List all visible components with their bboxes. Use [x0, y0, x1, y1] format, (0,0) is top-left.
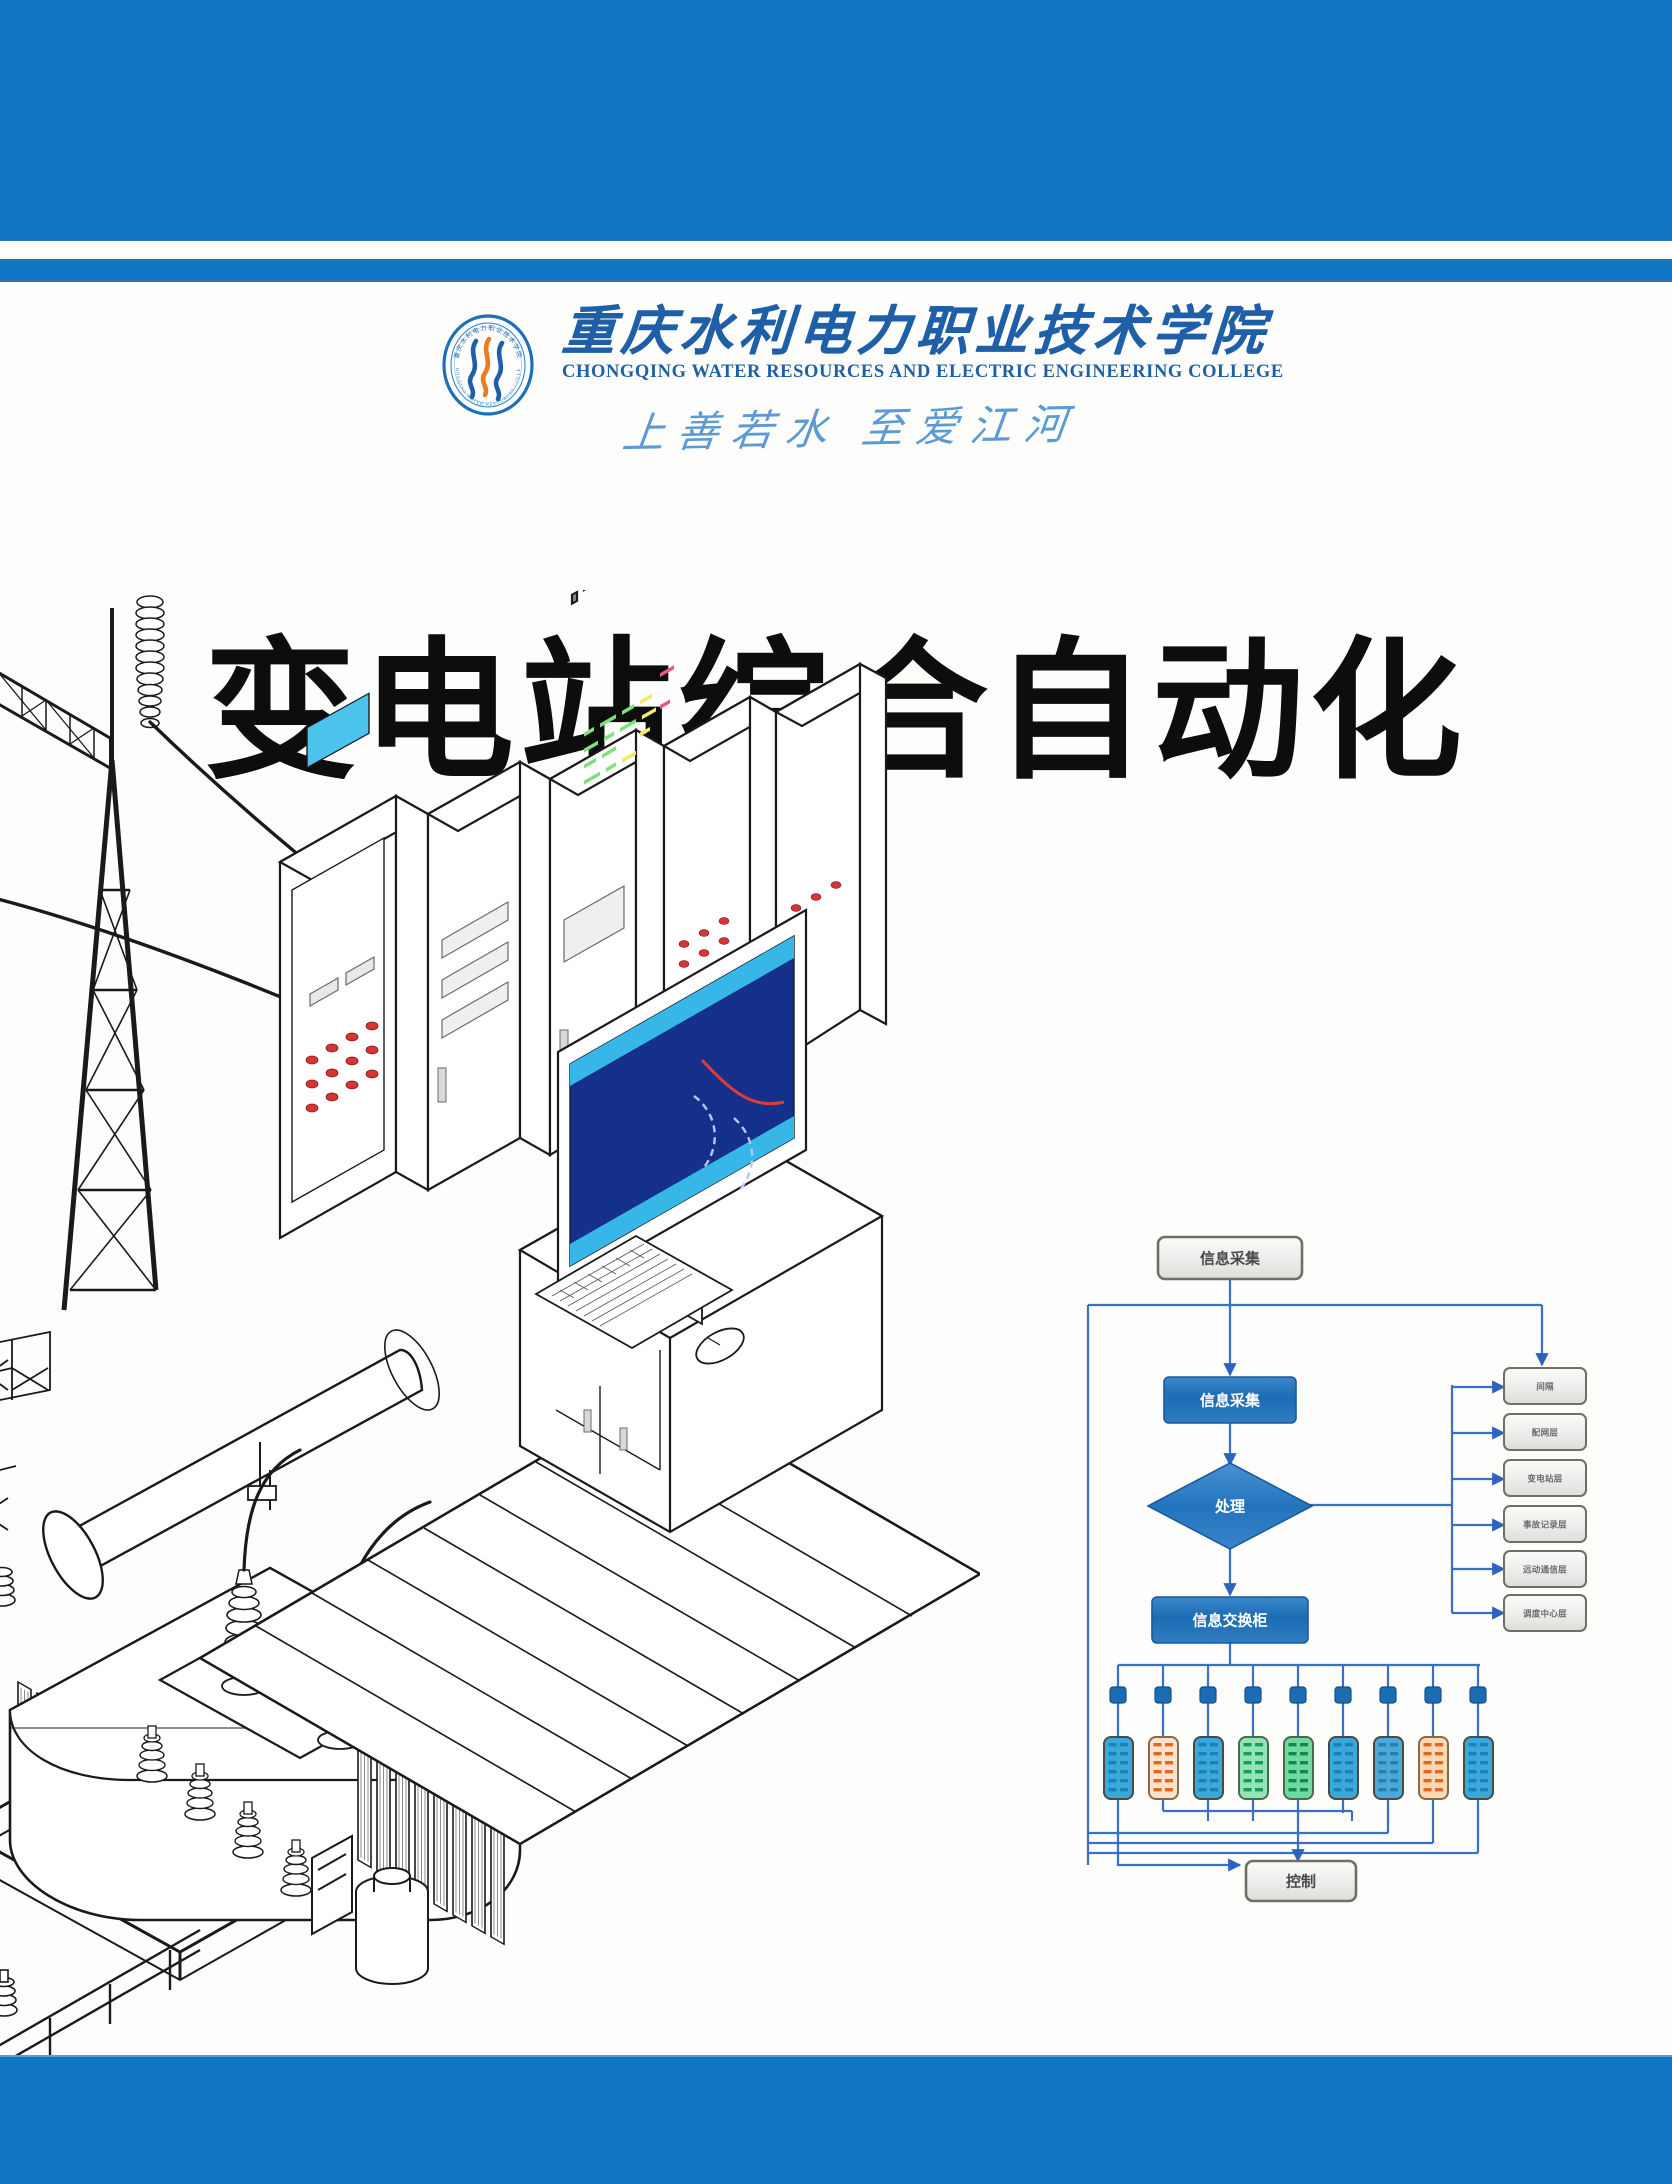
flow-collect-box-label: 信息采集	[1200, 1392, 1261, 1410]
disconnect-switch-assembly	[0, 1332, 50, 1530]
footer-band	[0, 2057, 1672, 2184]
flow-node-top-box: 信息采集	[1158, 1237, 1302, 1279]
flow-side-box-label: 间隔	[1536, 1382, 1554, 1393]
header-band-secondary	[0, 259, 1672, 281]
automation-flowchart: 信息采集 信息采集 处理 信息交换柜 间隔	[1080, 1225, 1640, 1925]
device-panel	[1419, 1737, 1448, 1799]
flow-side-box-label: 远动通信层	[1523, 1565, 1567, 1576]
flow-side-box: 事故记录层	[1504, 1506, 1586, 1542]
flow-top-box-label: 信息采集	[1200, 1250, 1261, 1268]
flow-node-collect-box: 信息采集	[1164, 1377, 1296, 1423]
flow-side-box: 变电站层	[1504, 1460, 1586, 1496]
college-logo: 重庆水利电力职业技术学院 CHONGQING WATER RESOURCES C…	[436, 305, 1256, 440]
lattice-transmission-tower	[0, 608, 156, 1310]
tap-changer-drum	[356, 1868, 428, 1984]
device-panel	[1464, 1737, 1493, 1799]
flow-control-box-label: 控制	[1286, 1873, 1316, 1891]
flow-side-box: 间隔	[1504, 1368, 1586, 1404]
flow-node-control-box: 控制	[1246, 1861, 1356, 1901]
flow-side-boxes: 间隔 配网层 变电站层 事故记录层 远动通信层	[1504, 1368, 1586, 1631]
device-panel	[1194, 1737, 1223, 1799]
flow-side-box-label: 调度中心层	[1523, 1609, 1567, 1620]
header-band-secondary-edge	[0, 279, 1672, 282]
device-panel	[1104, 1737, 1133, 1799]
flow-side-box: 远动通信层	[1504, 1551, 1586, 1587]
device-panel	[1374, 1737, 1403, 1799]
flow-node-decision: 处理	[1148, 1463, 1312, 1549]
logo-institution-en: CHONGQING WATER RESOURCES AND ELECTRIC E…	[562, 362, 1284, 383]
flow-node-exchange-box: 信息交换柜	[1152, 1597, 1308, 1643]
flow-device-panels	[1104, 1737, 1493, 1799]
substation-illustration	[0, 590, 980, 2090]
device-panel	[1149, 1737, 1178, 1799]
panel-lcd-display	[307, 693, 369, 767]
logo-institution-cn: 重庆水利电力职业技术学院	[560, 305, 1286, 359]
flow-side-box: 调度中心层	[1504, 1595, 1586, 1631]
device-panel	[1329, 1737, 1358, 1799]
header-band-gap	[0, 241, 1672, 259]
flow-side-box: 配网层	[1504, 1414, 1586, 1450]
flow-exchange-box-label: 信息交换柜	[1192, 1612, 1267, 1630]
device-panel	[1239, 1737, 1268, 1799]
header-band-primary	[0, 0, 1672, 241]
flow-side-box-label: 事故记录层	[1523, 1520, 1567, 1531]
flow-side-box-label: 变电站层	[1527, 1474, 1562, 1485]
suspension-insulator-chain	[136, 596, 164, 728]
device-panel	[1284, 1737, 1313, 1799]
flow-side-box-label: 配网层	[1532, 1429, 1559, 1439]
logo-motto: 上善若水 至爱江河	[619, 386, 1288, 461]
poster-page: 重庆水利电力职业技术学院 CHONGQING WATER RESOURCES C…	[0, 0, 1672, 2184]
flow-decision-label: 处理	[1214, 1498, 1245, 1516]
college-seal-icon: 重庆水利电力职业技术学院 CHONGQING WATER RESOURCES C…	[436, 313, 540, 417]
flow-junction-nodes	[1110, 1687, 1486, 1703]
